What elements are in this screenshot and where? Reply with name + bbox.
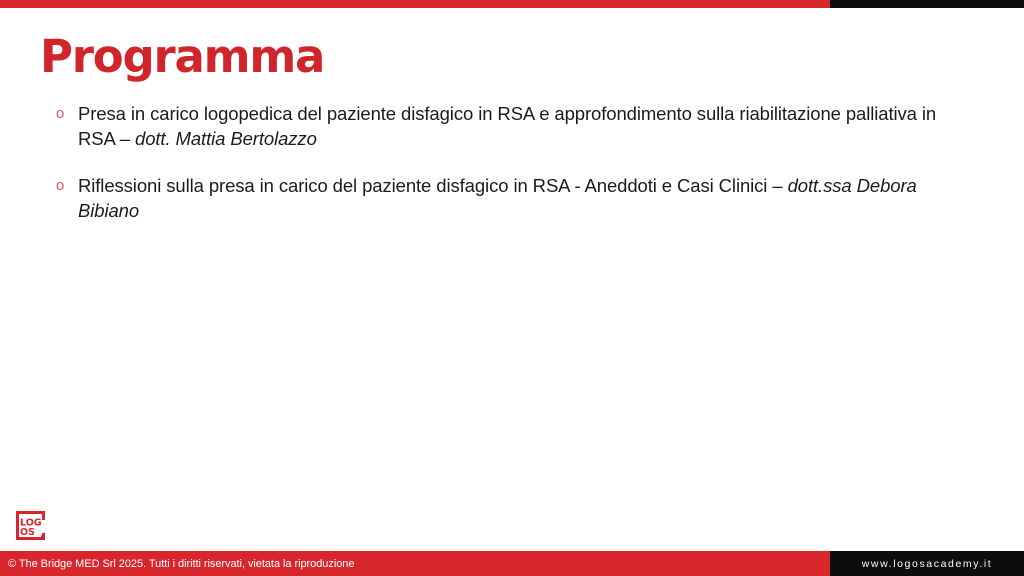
footer-copyright-section: © The Bridge MED Srl 2025. Tutti i dirit… [0,551,830,576]
top-accent-bar-black-segment [830,0,1024,8]
list-item-topic: Riflessioni sulla presa in carico del pa… [78,175,788,196]
footer-bar: © The Bridge MED Srl 2025. Tutti i dirit… [0,551,1024,576]
footer-copyright-text: © The Bridge MED Srl 2025. Tutti i dirit… [0,558,354,570]
programme-list: o Presa in carico logopedica del pazient… [40,101,970,223]
footer-website-text: www.logosacademy.it [862,558,993,570]
bullet-marker-icon: o [40,173,78,199]
list-item-text: Presa in carico logopedica del paziente … [78,101,970,151]
bullet-marker-icon: o [40,101,78,127]
logos-logo: LOG OS [12,508,50,543]
list-item: o Riflessioni sulla presa in carico del … [40,173,970,223]
list-item: o Presa in carico logopedica del pazient… [40,101,970,151]
list-item-speaker: dott. Mattia Bertolazzo [135,128,317,149]
list-item-text: Riflessioni sulla presa in carico del pa… [78,173,970,223]
slide-canvas: Programma o Presa in carico logopedica d… [0,0,1024,576]
top-accent-bar-red-segment [0,0,830,8]
footer-website-section: www.logosacademy.it [830,551,1024,576]
logo-text-line2: OS [20,527,35,538]
top-accent-bar [0,0,1024,8]
logos-logo-icon: LOG OS [12,508,50,543]
page-title: Programma [40,33,324,80]
